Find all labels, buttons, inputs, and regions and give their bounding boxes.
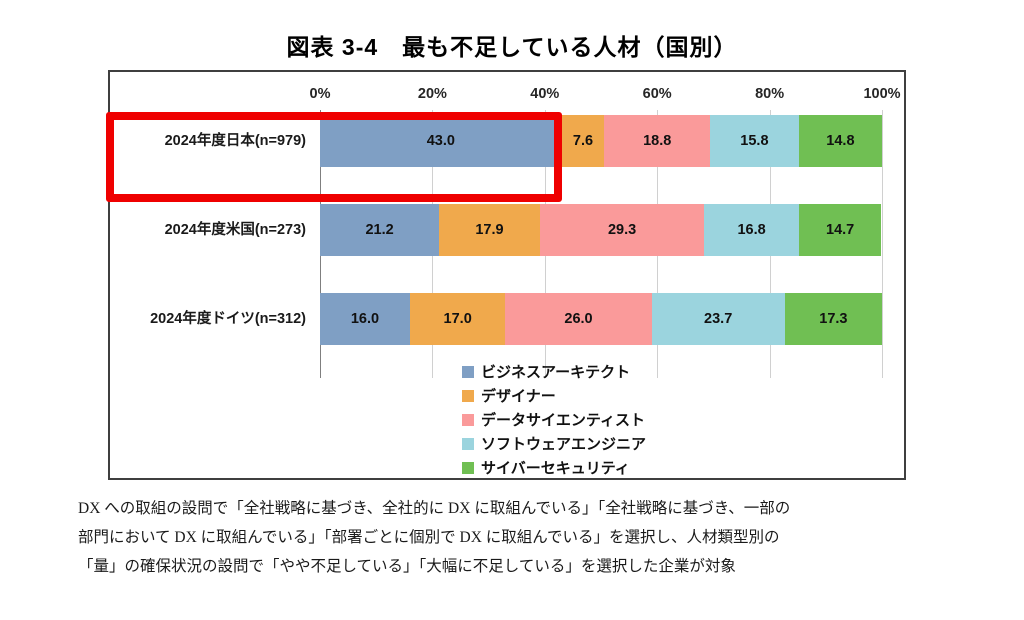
bar-row: 2024年度日本(n=979)43.07.618.815.814.8 xyxy=(110,115,904,167)
footnote-line: 部門において DX に取組んでいる」「部署ごとに個別で DX に取組んでいる」を… xyxy=(78,523,958,552)
x-axis-tick-20pct: 20% xyxy=(418,86,447,102)
bar-segment: 43.0 xyxy=(320,115,562,167)
stacked-bar: 16.017.026.023.717.3 xyxy=(320,293,882,345)
legend-label: デザイナー xyxy=(481,385,556,406)
legend-swatch-icon xyxy=(462,390,474,402)
bar-segment: 14.8 xyxy=(799,115,882,167)
stacked-bar: 21.217.929.316.814.7 xyxy=(320,204,882,256)
bar-segment: 17.3 xyxy=(785,293,882,345)
category-label: 2024年度米国(n=273) xyxy=(110,204,314,256)
x-axis-tick-100pct: 100% xyxy=(863,86,900,102)
bar-row: 2024年度米国(n=273)21.217.929.316.814.7 xyxy=(110,204,904,256)
legend-swatch-icon xyxy=(462,462,474,474)
bar-segment: 16.0 xyxy=(320,293,410,345)
legend-swatch-icon xyxy=(462,438,474,450)
category-label: 2024年度ドイツ(n=312) xyxy=(110,293,314,345)
legend-item: デザイナー xyxy=(462,384,802,407)
bar-segment: 15.8 xyxy=(710,115,799,167)
legend-swatch-icon xyxy=(462,366,474,378)
x-axis-tick-40pct: 40% xyxy=(530,86,559,102)
legend-item: ビジネスアーキテクト xyxy=(462,360,802,383)
footnote-line: DX への取組の設問で「全社戦略に基づき、全社的に DX に取組んでいる」「全社… xyxy=(78,494,958,523)
bar-segment: 17.9 xyxy=(439,204,540,256)
bar-segment: 7.6 xyxy=(562,115,605,167)
chart-legend: ビジネスアーキテクトデザイナーデータサイエンティストソフトウェアエンジニアサイバ… xyxy=(462,360,802,480)
legend-label: ビジネスアーキテクト xyxy=(481,361,630,382)
page-title: 図表 3-4 最も不足している人材（国別） xyxy=(0,28,1024,62)
chart-frame: 0%20%40%60%80%100% 2024年度日本(n=979)43.07.… xyxy=(108,70,906,480)
x-axis-tick-60pct: 60% xyxy=(643,86,672,102)
x-axis-tick-0pct: 0% xyxy=(310,86,331,102)
legend-item: ソフトウェアエンジニア xyxy=(462,432,802,455)
bar-segment: 29.3 xyxy=(540,204,705,256)
footnote-line: 「量」の確保状況の設問で「やや不足している」「大幅に不足している」を選択した企業… xyxy=(78,552,958,581)
bar-segment: 21.2 xyxy=(320,204,439,256)
bar-row: 2024年度ドイツ(n=312)16.017.026.023.717.3 xyxy=(110,293,904,345)
legend-label: データサイエンティスト xyxy=(481,409,645,430)
bar-segment: 17.0 xyxy=(410,293,506,345)
bar-segment: 26.0 xyxy=(505,293,651,345)
bar-segment: 16.8 xyxy=(704,204,798,256)
legend-item: サイバーセキュリティ xyxy=(462,456,802,479)
legend-label: ソフトウェアエンジニア xyxy=(481,433,646,454)
bar-rows: 2024年度日本(n=979)43.07.618.815.814.82024年度… xyxy=(110,110,904,378)
bar-segment: 14.7 xyxy=(799,204,882,256)
legend-swatch-icon xyxy=(462,414,474,426)
legend-item: データサイエンティスト xyxy=(462,408,802,431)
legend-label: サイバーセキュリティ xyxy=(481,457,630,478)
footnote-text: DX への取組の設問で「全社戦略に基づき、全社的に DX に取組んでいる」「全社… xyxy=(78,494,958,581)
x-axis-tick-80pct: 80% xyxy=(755,86,784,102)
category-label: 2024年度日本(n=979) xyxy=(110,115,314,167)
bar-segment: 23.7 xyxy=(652,293,785,345)
bar-segment: 18.8 xyxy=(604,115,710,167)
x-axis-tick-labels: 0%20%40%60%80%100% xyxy=(320,86,882,106)
stacked-bar: 43.07.618.815.814.8 xyxy=(320,115,882,167)
